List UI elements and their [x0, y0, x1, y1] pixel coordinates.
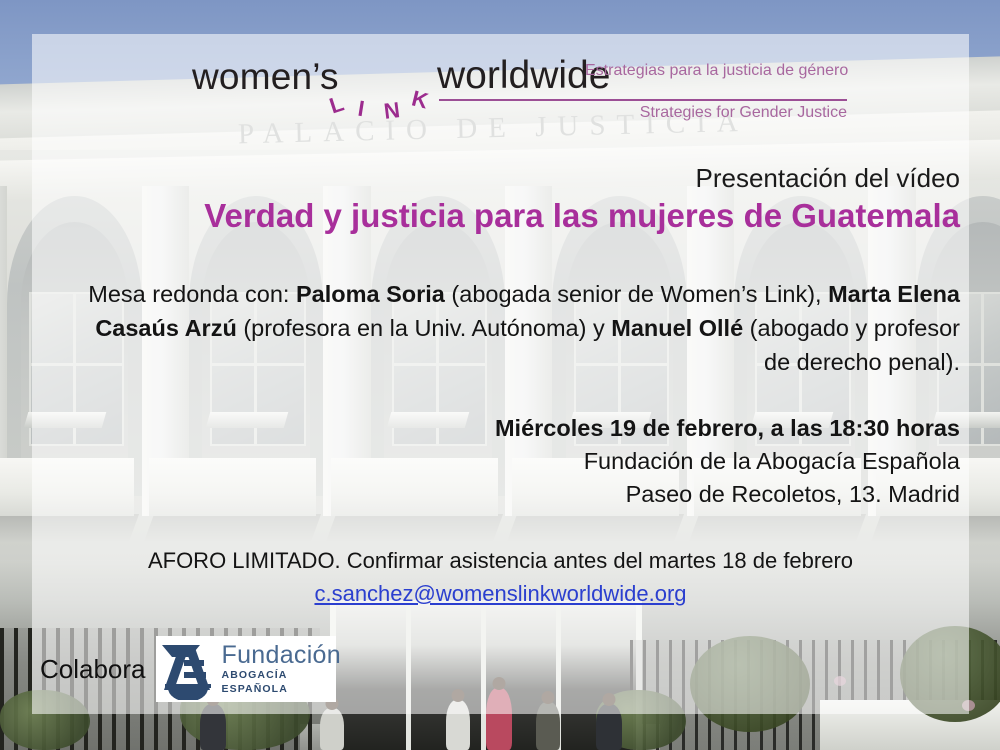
speaker-1-role: (abogada senior de Women’s Link),	[445, 281, 828, 307]
logo-link-letter-k: K	[409, 85, 431, 114]
event-poster: PALACIO DE JUSTICIA	[0, 0, 1000, 750]
speaker-3-role: (abogado y profesor de derecho penal).	[743, 315, 960, 375]
logo-link-letter-n: N	[382, 97, 401, 125]
event-datetime: Miércoles 19 de febrero, a las 18:30 hor…	[495, 412, 960, 445]
event-details: Miércoles 19 de febrero, a las 18:30 hor…	[495, 412, 960, 511]
event-address: Paseo de Recoletos, 13. Madrid	[495, 478, 960, 511]
page-title: Verdad y justicia para las mujeres de Gu…	[32, 197, 960, 235]
event-venue: Fundación de la Abogacía Española	[495, 445, 960, 478]
fundacion-logo-name: Fundación	[222, 642, 341, 668]
logo-divider-rule	[439, 99, 847, 101]
panel-intro: Mesa redonda con:	[88, 281, 296, 307]
fundacion-logo-subtitle: ABOGACÍA ESPAÑOLA	[222, 668, 341, 696]
rsvp-block: AFORO LIMITADO. Confirmar asistencia ant…	[32, 544, 969, 610]
poster-content: women’s L I N K worldwide Estrategias pa…	[32, 34, 969, 714]
speaker-1-name: Paloma Soria	[296, 281, 445, 307]
panel-description: Mesa redonda con: Paloma Soria (abogada …	[80, 277, 960, 379]
kicker-text: Presentación del vídeo	[695, 163, 960, 194]
fundacion-logo-text: Fundación ABOGACÍA ESPAÑOLA	[218, 642, 341, 696]
womens-link-worldwide-logo: women’s L I N K worldwide Estrategias pa…	[192, 46, 892, 124]
logo-link-letter-l: L	[326, 91, 347, 120]
logo-word-womens: women’s	[192, 56, 339, 98]
fundacion-abogacia-espanola-logo: Fundación ABOGACÍA ESPAÑOLA	[156, 636, 336, 702]
rsvp-email-link[interactable]: c.sanchez@womenslinkworldwide.org	[32, 577, 969, 610]
abogacia-scales-monogram-icon	[156, 638, 218, 700]
logo-link-letter-i: I	[356, 96, 366, 123]
logo-tagline-spanish: Estrategias para la justicia de género	[585, 62, 848, 80]
speaker-3-name: Manuel Ollé	[611, 315, 743, 341]
person	[320, 708, 344, 750]
speaker-2-role: (profesora en la Univ. Autónoma) y	[237, 315, 611, 341]
collaborator-row: Colabora Fundación ABOGACÍA ESPAÑOLA	[40, 636, 336, 702]
collaborator-label: Colabora	[40, 654, 146, 685]
rsvp-notice: AFORO LIMITADO. Confirmar asistencia ant…	[148, 548, 853, 573]
logo-tagline-english: Strategies for Gender Justice	[585, 104, 847, 122]
logo-word-link: L I N K	[330, 76, 440, 116]
